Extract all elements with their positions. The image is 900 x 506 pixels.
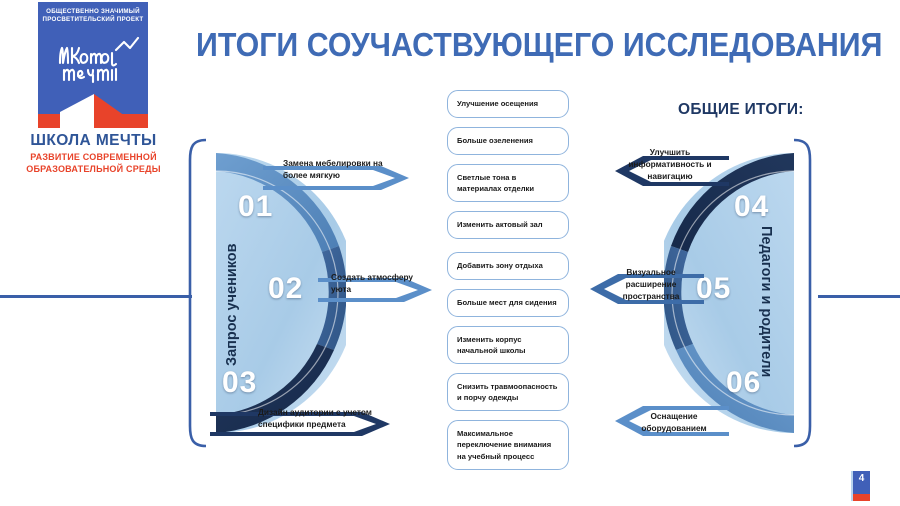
result-item-1[interactable]: Улучшение осещения xyxy=(447,90,569,118)
logo-house-icon xyxy=(38,82,148,128)
left-arrow-1-label: Замена мебелировки на более мягкую xyxy=(283,157,403,181)
section-subtitle: ОБЩИЕ ИТОГИ: xyxy=(678,101,804,119)
page-number-badge: 4 xyxy=(853,471,870,501)
right-arrow-6-label: Оснащение оборудованием xyxy=(625,410,723,434)
right-arrow-5-label: Визуальное расширение пространства xyxy=(608,266,694,302)
right-arrow-6-line2: оборудованием xyxy=(641,423,706,433)
result-item-2[interactable]: Больше озеленения xyxy=(447,127,569,155)
right-arrow-6-line1: Оснащение xyxy=(650,411,697,421)
result-item-7[interactable]: Изменить корпус начальной школы xyxy=(447,326,569,364)
logo-sub-line1: РАЗВИТИЕ СОВРЕМЕННОЙ xyxy=(30,152,157,162)
logo-tagline-line2: ПРОСВЕТИТЕЛЬСКИЙ ПРОЕКТ xyxy=(38,16,148,24)
result-item-8[interactable]: Снизить травмоопасность и порчу одежды xyxy=(447,373,569,411)
right-arrow-5-line2: расширение xyxy=(626,279,677,289)
left-arrow-2-line1: Создать атмосферу xyxy=(331,272,413,282)
left-axis-label: Запрос учеников xyxy=(224,243,240,366)
logo-subtitle: РАЗВИТИЕ СОВРЕМЕННОЙ ОБРАЗОВАТЕЛЬНОЙ СРЕ… xyxy=(22,152,165,175)
right-arrow-4-line1: Улучшить xyxy=(650,147,690,157)
logo-script-icon xyxy=(38,32,148,84)
right-arrow-5-line1: Визуальное xyxy=(626,267,675,277)
right-arrow-4-line3: навигацию xyxy=(647,171,692,181)
logo-card: ОБЩЕСТВЕННО ЗНАЧИМЫЙ ПРОСВЕТИТЕЛЬСКИЙ ПР… xyxy=(38,2,148,128)
left-step-number-3: 03 xyxy=(222,366,257,400)
left-arrow-3-label: Дизайн аудитории с учетом специфики пред… xyxy=(258,406,384,430)
right-axis-label: Педагоги и родители xyxy=(758,226,774,377)
right-step-number-6: 06 xyxy=(726,366,761,400)
right-arrow-5-line3: пространства xyxy=(623,291,680,301)
result-item-5[interactable]: Добавить зону отдыха xyxy=(447,252,569,280)
result-item-4[interactable]: Изменить актовый зал xyxy=(447,211,569,239)
right-arrow-4-line2: информативность и xyxy=(628,159,711,169)
brand-logo: ОБЩЕСТВЕННО ЗНАЧИМЫЙ ПРОСВЕТИТЕЛЬСКИЙ ПР… xyxy=(22,2,182,192)
right-step-number-4: 04 xyxy=(734,190,769,224)
left-arrow-2-label: Создать атмосферу уюта xyxy=(331,271,423,295)
logo-sub-line2: ОБРАЗОВАТЕЛЬНОЙ СРЕДЫ xyxy=(26,164,161,174)
page-title: ИТОГИ СОУЧАСТВУЮЩЕГО ИССЛЕДОВАНИЯ xyxy=(196,26,882,64)
slide-canvas: ОБЩЕСТВЕННО ЗНАЧИМЫЙ ПРОСВЕТИТЕЛЬСКИЙ ПР… xyxy=(0,0,900,506)
left-arrow-3-line2: специфики предмета xyxy=(258,419,346,429)
left-arrow-2-line2: уюта xyxy=(331,284,351,294)
right-divider-rule xyxy=(818,295,900,298)
result-item-3[interactable]: Светлые тона в материалах отделки xyxy=(447,164,569,202)
left-arrow-3-line1: Дизайн аудитории с учетом xyxy=(258,407,372,417)
logo-name: ШКОЛА МЕЧТЫ xyxy=(22,132,165,150)
left-arrow-1-line2: более мягкую xyxy=(283,170,340,180)
left-divider-rule xyxy=(0,295,192,298)
result-item-6[interactable]: Больше мест для сидения xyxy=(447,289,569,317)
badge-red-strip xyxy=(853,494,870,501)
page-number: 4 xyxy=(853,473,870,484)
right-arrow-4-label: Улучшить информативность и навигацию xyxy=(622,146,718,182)
result-item-9[interactable]: Максимальное переключение внимания на уч… xyxy=(447,420,569,470)
left-arrow-1-line1: Замена мебелировки на xyxy=(283,158,383,168)
logo-tagline: ОБЩЕСТВЕННО ЗНАЧИМЫЙ ПРОСВЕТИТЕЛЬСКИЙ ПР… xyxy=(38,8,148,25)
left-step-number-2: 02 xyxy=(268,272,303,306)
